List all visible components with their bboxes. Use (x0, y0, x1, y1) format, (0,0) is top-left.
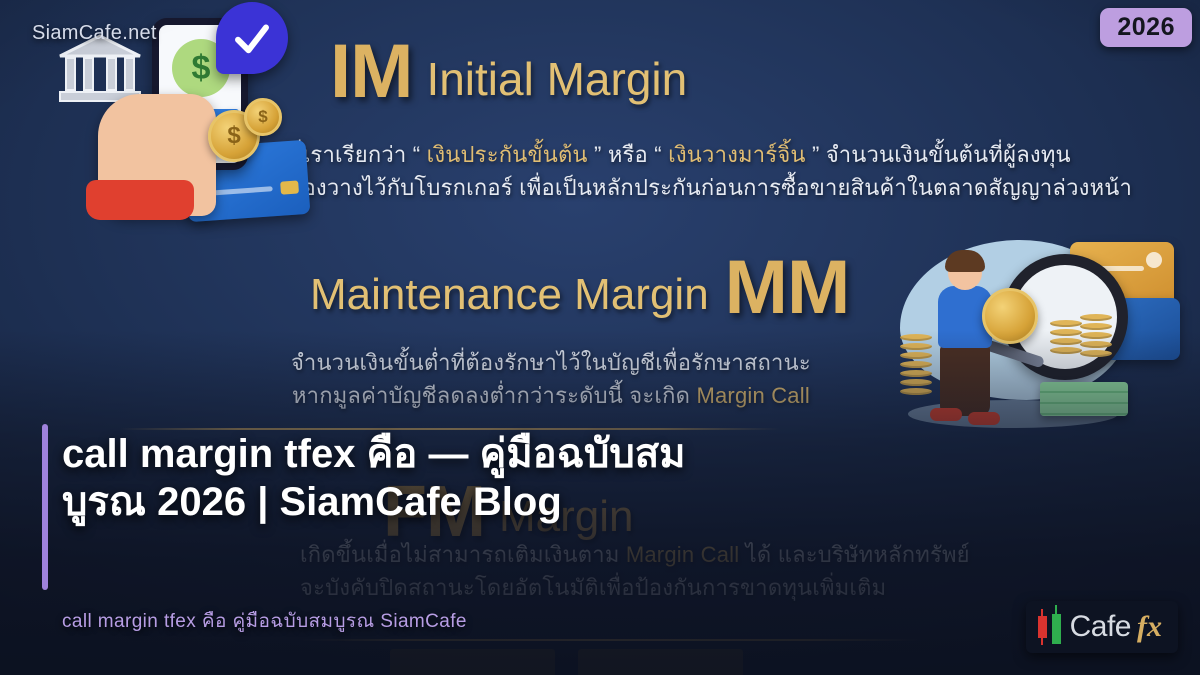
year-badge: 2026 (1100, 8, 1192, 47)
mm-body-line-2: หากมูลค่าบัญชีลดลงต่ำกว่าระดับนี้ จะเกิด… (291, 379, 811, 412)
bottom-shape-right (578, 649, 743, 675)
section-heading-mm: MM Maintenance Margin (310, 252, 849, 324)
im-abbreviation: IM (330, 36, 412, 108)
page-title: call margin tfex คือ — คู่มือฉบับสมบูรณ … (62, 430, 762, 526)
person-shoe-left (930, 408, 962, 421)
im-full-name: Initial Margin (426, 55, 687, 108)
im-body-line-2: ต้องวางไว้กับโบรกเกอร์ เพื่อเป็นหลักประก… (288, 171, 1132, 204)
cash-bundle (1040, 382, 1128, 416)
cafefx-logo[interactable]: Cafe fx (1026, 601, 1178, 653)
sleeve-cuff (86, 180, 194, 220)
person-hair (945, 250, 985, 272)
site-watermark: SiamCafe.net (32, 22, 157, 45)
title-accent-bar (42, 424, 48, 590)
coin-stack-mid (1050, 320, 1082, 356)
coin-stack-right (1080, 314, 1112, 359)
fm-body-line-1: เกิดขึ้นเมื่อไม่สามารถเติมเงินตาม Margin… (300, 538, 970, 571)
candle-up (1052, 614, 1061, 644)
logo-text-cafe: Cafe (1070, 610, 1131, 644)
person-shoe-right (968, 412, 1000, 425)
article-hero-artwork: IM Initial Margin ที่เราเรียกว่า “ เงินป… (0, 0, 1200, 675)
fm-body-line-2: จะบังคับปิดสถานะโดยอัตโนมัติเพื่อป้องกัน… (300, 571, 970, 604)
candlestick-icon (1038, 610, 1061, 644)
bottom-shape-left (390, 649, 555, 675)
mm-full-name: Maintenance Margin (310, 272, 709, 324)
mm-body-line-1: จำนวนเงินขั้นต่ำที่ต้องรักษาไว้ในบัญชีเพ… (291, 346, 811, 379)
checkmark-badge-icon (216, 2, 288, 74)
gold-coin-held (982, 288, 1038, 344)
logo-text-fx: fx (1137, 610, 1162, 644)
gold-coin-small: $ (244, 98, 282, 136)
section-body-fm: เกิดขึ้นเมื่อไม่สามารถเติมเงินตาม Margin… (300, 538, 970, 604)
im-body-line-1: ที่เราเรียกว่า “ เงินประกันขั้นต้น ” หรื… (288, 138, 1132, 171)
section-body-mm: จำนวนเงินขั้นต่ำที่ต้องรักษาไว้ในบัญชีเพ… (291, 346, 811, 412)
page-subtitle: call margin tfex คือ คู่มือฉบับสมบูรณ Si… (62, 606, 467, 636)
mm-abbreviation: MM (725, 252, 850, 324)
gold-divider-lower (300, 639, 920, 641)
coin-stack-left (900, 334, 932, 397)
margin-gauge-illustration (890, 236, 1180, 428)
candle-down (1038, 616, 1047, 638)
section-heading-im: IM Initial Margin (330, 36, 687, 108)
person-legs (940, 344, 990, 416)
section-body-im: ที่เราเรียกว่า “ เงินประกันขั้นต้น ” หรื… (288, 138, 1132, 204)
